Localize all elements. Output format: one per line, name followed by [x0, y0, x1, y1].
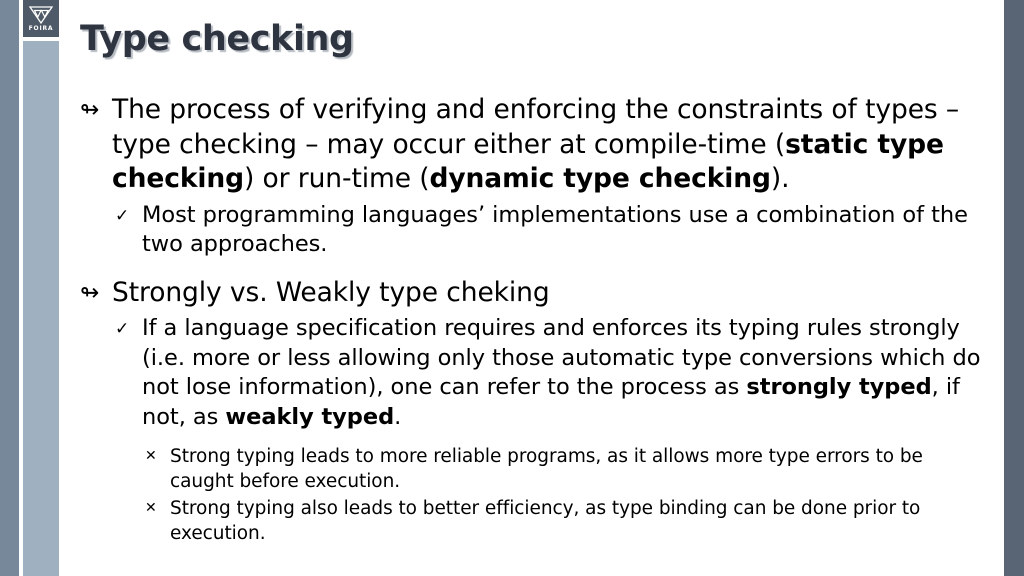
bullet-better-efficiency-text: Strong typing also leads to better effic…	[170, 496, 990, 546]
bullet-marker-level2-icon: ✓	[115, 314, 142, 344]
foira-triangle-icon	[28, 5, 54, 25]
bullet-group-spacer	[80, 434, 990, 444]
page-title: Type checking	[80, 19, 980, 59]
bullet-type-checking-definition-text: The process of verifying and enforcing t…	[112, 93, 990, 197]
bullet-group-spacer	[80, 262, 990, 276]
bullet-marker-level3-icon: ✕	[145, 444, 170, 469]
bullet-language-specification: ✓If a language specification requires an…	[115, 314, 990, 432]
bullet-combination-of-approaches: ✓Most programming languages’ implementat…	[115, 201, 990, 260]
bullet-marker-level1-icon: ↬	[80, 276, 112, 310]
left-accent-bar-dark	[0, 0, 19, 576]
bullet-strongly-vs-weakly: ↬Strongly vs. Weakly type cheking	[80, 276, 990, 311]
bullet-reliable-programs: ✕Strong typing leads to more reliable pr…	[145, 444, 990, 494]
logo-box: FOIRA	[23, 0, 59, 37]
slide-body: ↬The process of verifying and enforcing …	[80, 93, 990, 548]
presentation-slide: FOIRA Type checking ↬The process of veri…	[0, 0, 1024, 576]
bullet-strongly-vs-weakly-text: Strongly vs. Weakly type cheking	[112, 276, 990, 311]
bullet-marker-level1-icon: ↬	[80, 93, 112, 127]
bullet-reliable-programs-text: Strong typing leads to more reliable pro…	[170, 444, 990, 494]
bullet-better-efficiency: ✕Strong typing also leads to better effi…	[145, 496, 990, 546]
right-accent-bar	[1004, 0, 1024, 576]
bullet-language-specification-text: If a language specification requires and…	[142, 314, 990, 432]
bullet-marker-level3-icon: ✕	[145, 496, 170, 521]
bullet-combination-of-approaches-text: Most programming languages’ implementati…	[142, 201, 990, 260]
logo-wordmark: FOIRA	[29, 25, 54, 32]
bullet-type-checking-definition: ↬The process of verifying and enforcing …	[80, 93, 990, 197]
left-accent-bar-light	[23, 41, 59, 576]
bullet-marker-level2-icon: ✓	[115, 201, 142, 231]
